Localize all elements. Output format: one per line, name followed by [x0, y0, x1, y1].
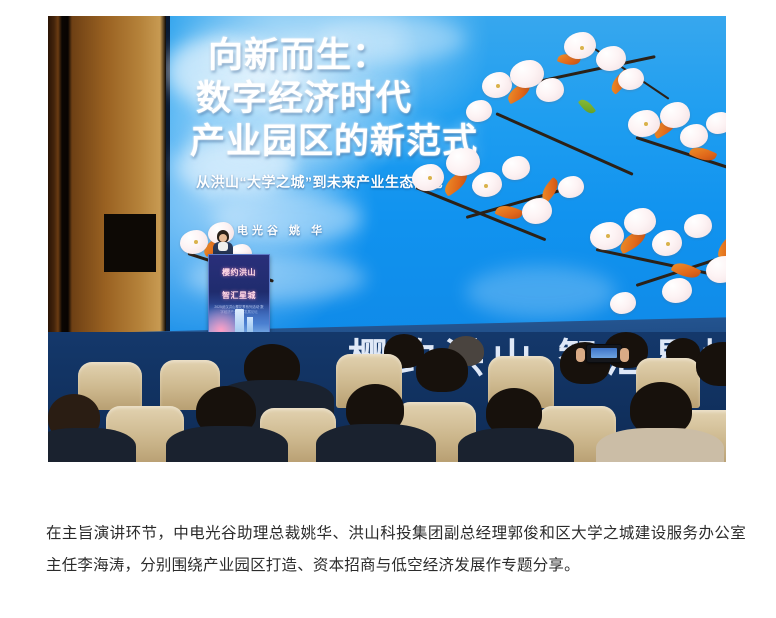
podium-sign-title-line-2: 智汇星城 [209, 290, 269, 301]
audience-section: 樱约洪山 智汇星城 [48, 332, 726, 462]
audience-shoulders [458, 428, 574, 462]
audience-hand [576, 348, 585, 362]
audience-shoulders [596, 428, 724, 462]
podium-sign-title-line-1: 樱约洪山 [209, 267, 269, 278]
screen-title-line-3: 产业园区的新范式 [190, 120, 550, 163]
wood-wall-panel [48, 16, 170, 346]
smartphone [586, 344, 622, 363]
conference-photo: 向新而生： 数字经济时代 产业园区的新范式 从洪山“大学之城”到未来产业生态高地… [48, 16, 726, 462]
speaker-face [219, 234, 227, 242]
screen-speaker-label: 中电光谷 姚 华 [222, 222, 326, 238]
audience-shoulders [166, 426, 288, 462]
podium-signboard: 樱约洪山 智汇星城 2025武汉洪山樱花季系列活动·数字经济产业园区发展论坛 [208, 254, 270, 338]
audience-shoulders [316, 424, 436, 462]
article-container: 向新而生： 数字经济时代 产业园区的新范式 从洪山“大学之城”到未来产业生态高地… [0, 0, 776, 618]
audience-shoulders [48, 428, 136, 462]
audience-hand [620, 348, 629, 362]
speaker-scarf [218, 242, 228, 251]
screen-title-line-1: 向新而生： [208, 34, 550, 77]
audience-head [416, 348, 468, 392]
article-caption: 在主旨演讲环节，中电光谷助理总裁姚华、洪山科投集团副总经理郭俊和区大学之城建设服… [46, 518, 746, 582]
cloud-decoration [466, 266, 616, 318]
conference-hall-scene: 向新而生： 数字经济时代 产业园区的新范式 从洪山“大学之城”到未来产业生态高地… [48, 16, 726, 462]
